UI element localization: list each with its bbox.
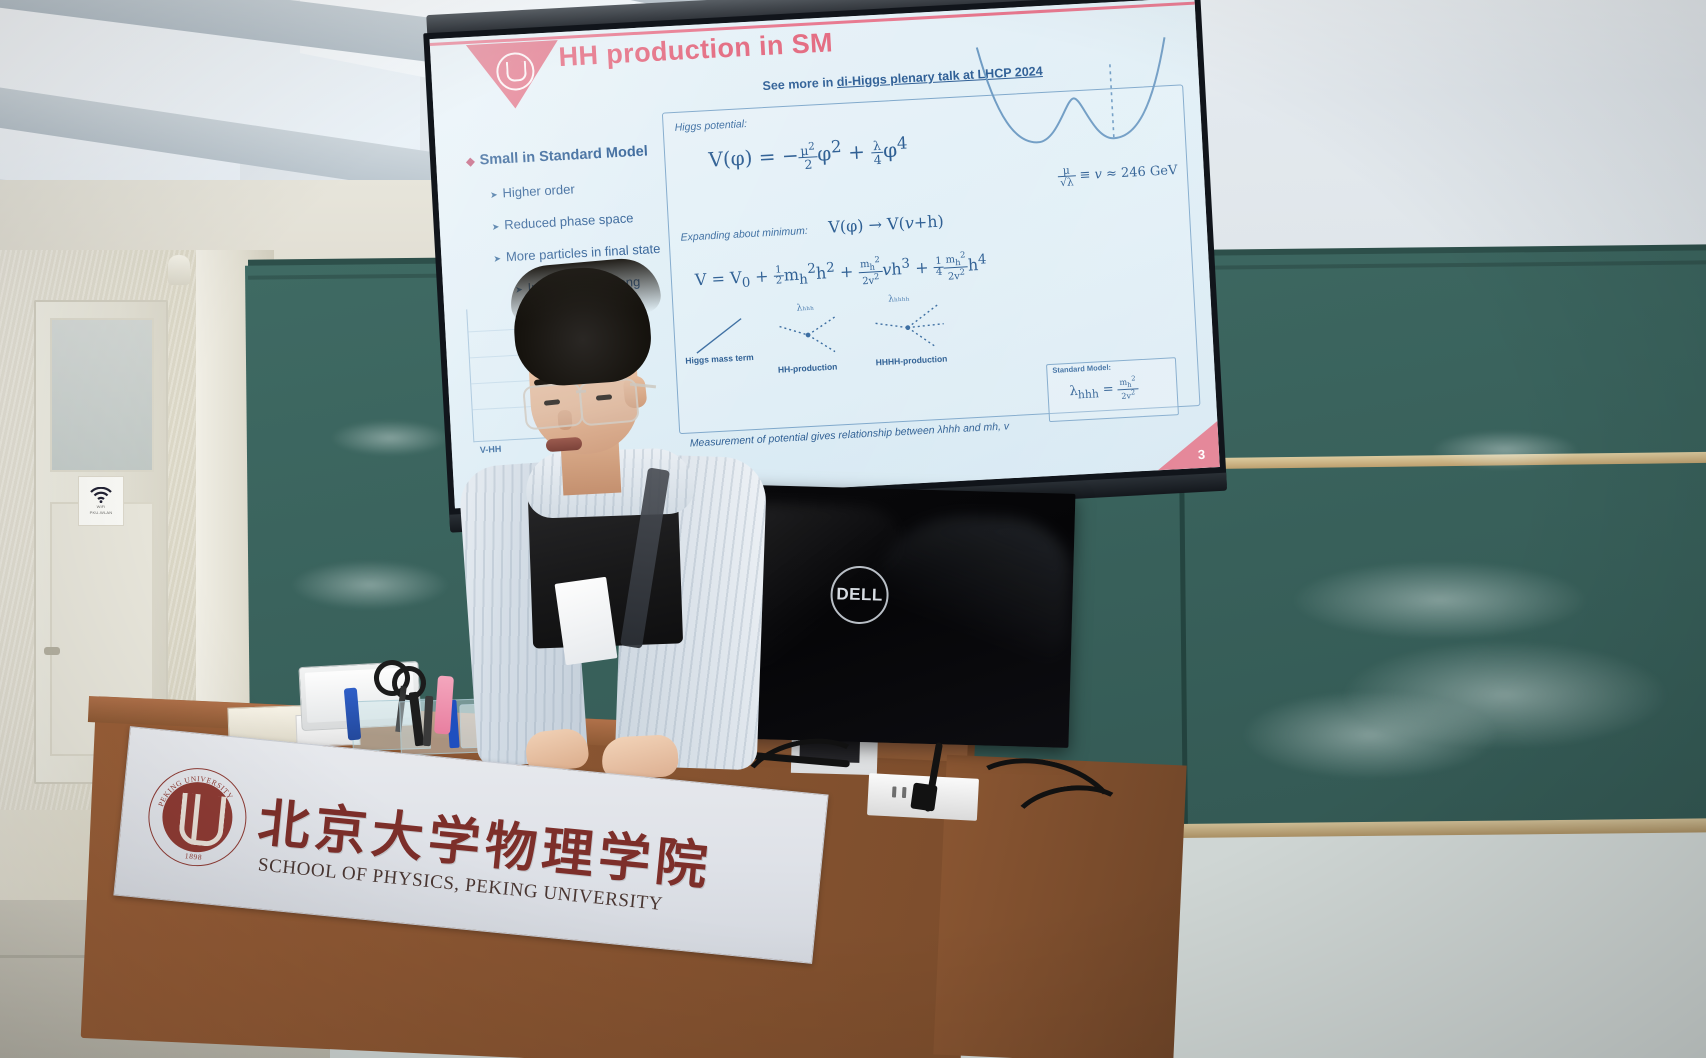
svg-text:PEKING UNIVERSITY: PEKING UNIVERSITY bbox=[156, 770, 237, 814]
seal-top-text: PEKING UNIVERSITY bbox=[156, 770, 237, 814]
hhhh-production-diagram-icon bbox=[868, 297, 955, 353]
eyeglasses-left-lens bbox=[522, 382, 584, 431]
peking-university-seal: PEKING UNIVERSITY 1898 bbox=[144, 764, 251, 871]
slide-logo-badge bbox=[466, 40, 562, 123]
slide-subtitle-prefix: See more in bbox=[762, 75, 837, 93]
cable-plug bbox=[910, 782, 937, 811]
wifi-sign-line2: PKU-WLAN bbox=[90, 511, 113, 515]
door-handle[interactable] bbox=[44, 647, 60, 655]
wifi-icon bbox=[90, 487, 112, 503]
higgs-potential-curve bbox=[970, 31, 1177, 172]
mouth bbox=[546, 437, 583, 452]
door-window bbox=[50, 318, 154, 472]
wifi-sign-line1: WiFi bbox=[97, 505, 106, 509]
seal-year: 1898 bbox=[184, 851, 202, 862]
bullet-item-2: Reduced phase space bbox=[491, 210, 634, 233]
bullet-main: Small in Standard Model bbox=[466, 143, 648, 169]
monitor-reflection bbox=[877, 515, 1071, 670]
paper-sheet bbox=[555, 577, 618, 665]
lecture-hall-photo: WiFi PKU-WLAN HH production in SM bbox=[0, 0, 1706, 1058]
power-socket bbox=[902, 787, 907, 798]
power-socket bbox=[892, 786, 897, 797]
seal-ring-text: PEKING UNIVERSITY 1898 bbox=[145, 765, 250, 870]
presenter: WIDE 2019 AWD bbox=[452, 260, 792, 780]
slide-number-badge bbox=[1155, 421, 1219, 470]
slide-number: 3 bbox=[1197, 447, 1205, 462]
dell-logo-text: DELL bbox=[836, 584, 883, 605]
motion-sensor bbox=[168, 255, 190, 285]
wifi-sign: WiFi PKU-WLAN bbox=[78, 476, 124, 526]
standard-model-box-equation: λhhh = mh22v2 bbox=[1069, 375, 1139, 404]
bullet-item-1: Higher order bbox=[490, 181, 575, 201]
